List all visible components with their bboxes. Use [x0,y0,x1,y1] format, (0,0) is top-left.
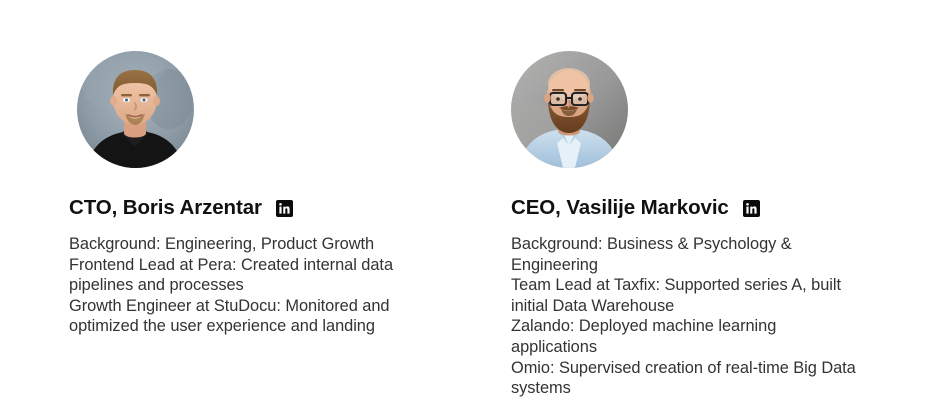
linkedin-icon[interactable] [743,200,760,217]
team-profiles-section: CTO, Boris Arzentar Background: Engineer… [0,0,948,412]
profile-bio: Background: Business & Psychology & Engi… [511,234,863,399]
linkedin-icon[interactable] [276,200,293,217]
profile-name-row: CTO, Boris Arzentar [69,196,293,220]
profile-name-row: CEO, Vasilije Markovic [511,196,760,220]
person-name: CEO, Vasilije Markovic [511,196,729,220]
person-name: CTO, Boris Arzentar [69,196,262,220]
avatar [511,51,628,168]
avatar [77,51,194,168]
profile-bio: Background: Engineering, Product Growth … [69,234,414,337]
